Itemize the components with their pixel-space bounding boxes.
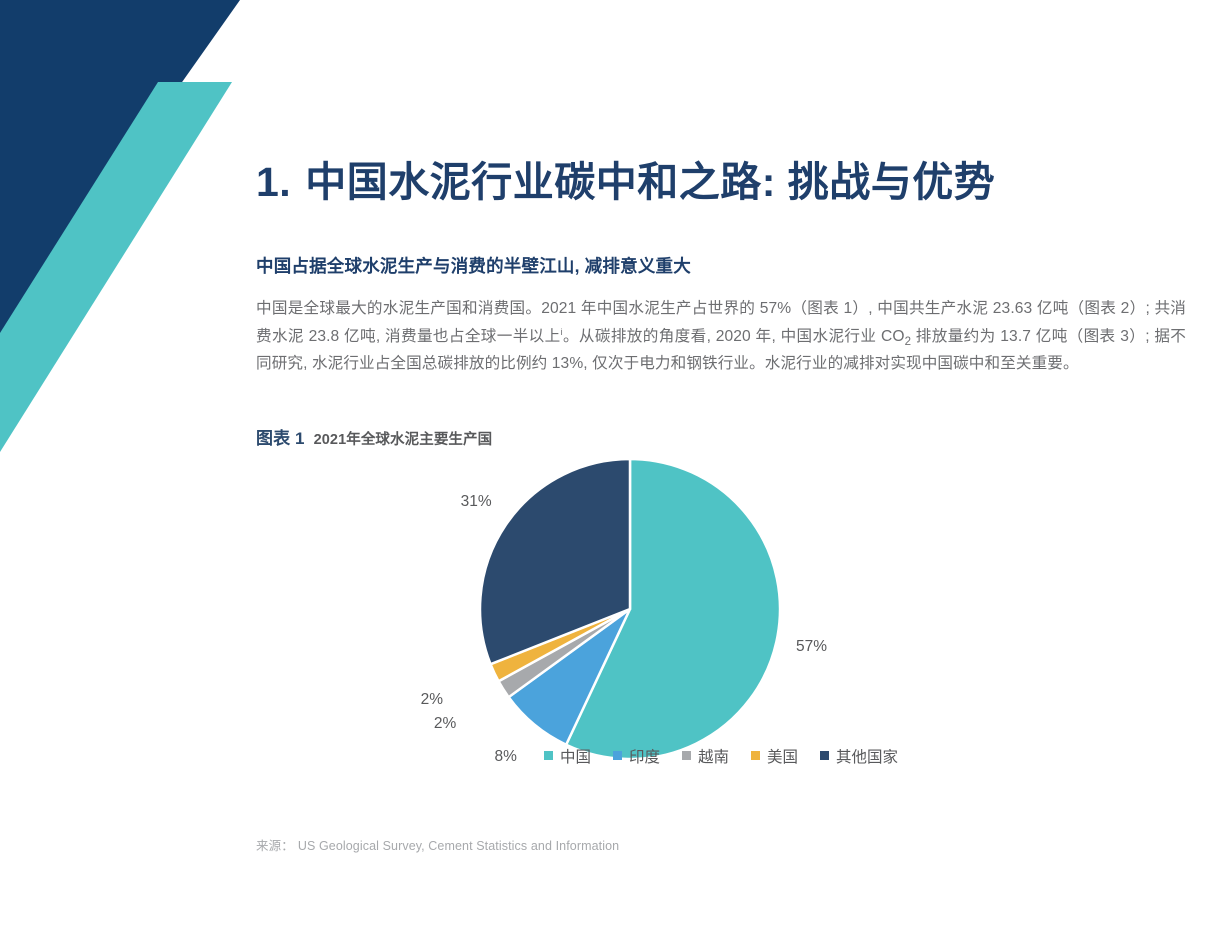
legend-item-印度[interactable]: 印度 [613,745,660,767]
legend-swatch-icon [820,751,829,760]
legend-swatch-icon [682,751,691,760]
chart-legend: 中国印度越南美国其他国家 [256,745,1186,767]
page-title-number: 1. [256,159,291,205]
navy-triangle [0,0,240,340]
body-paragraph: 中国是全球最大的水泥生产国和消费国。2021 年中国水泥生产占世界的 57%（图… [256,278,1186,378]
paragraph-part-2: 。从碳排放的角度看, 2020 年, 中国水泥行业 CO [563,328,905,345]
legend-label: 其他国家 [836,745,898,767]
legend-swatch-icon [613,751,622,760]
pie-label-其他国家: 31% [461,493,492,511]
legend-label: 中国 [560,745,591,767]
pie-label-越南: 2% [434,715,456,733]
legend-label: 越南 [698,745,729,767]
figure-source: 来源：US Geological Survey, Cement Statisti… [256,817,1186,854]
legend-item-美国[interactable]: 美国 [751,745,798,767]
pie-chart: 57%8%2%2%31% 中国印度越南美国其他国家 [256,457,1186,817]
page-title: 1.中国水泥行业碳中和之路: 挑战与优势 [256,0,1186,206]
figure-label: 图表 1 [256,429,305,448]
section-subtitle: 中国占据全球水泥生产与消费的半壁江山, 减排意义重大 [256,206,1186,278]
source-text: US Geological Survey, Cement Statistics … [298,839,619,853]
source-label: 来源： [256,839,294,853]
legend-item-越南[interactable]: 越南 [682,745,729,767]
figure-title: 2021年全球水泥主要生产国 [314,432,493,448]
legend-swatch-icon [544,751,553,760]
page-title-text: 中国水泥行业碳中和之路: 挑战与优势 [305,159,995,205]
pie-graphic [478,457,808,767]
decorative-corner-banner [0,0,300,470]
legend-label: 印度 [629,745,660,767]
teal-stripe [0,82,232,452]
figure-1: 图表 12021年全球水泥主要生产国 57%8%2%2%31% 中国印度越南美国… [256,378,1186,854]
legend-item-其他国家[interactable]: 其他国家 [820,745,898,767]
page-content: 1.中国水泥行业碳中和之路: 挑战与优势 中国占据全球水泥生产与消费的半壁江山,… [256,0,1186,854]
legend-swatch-icon [751,751,760,760]
legend-label: 美国 [767,745,798,767]
legend-item-中国[interactable]: 中国 [544,745,591,767]
pie-label-美国: 2% [421,691,443,709]
figure-caption: 图表 12021年全球水泥主要生产国 [256,424,1186,449]
pie-label-中国: 57% [796,638,827,656]
